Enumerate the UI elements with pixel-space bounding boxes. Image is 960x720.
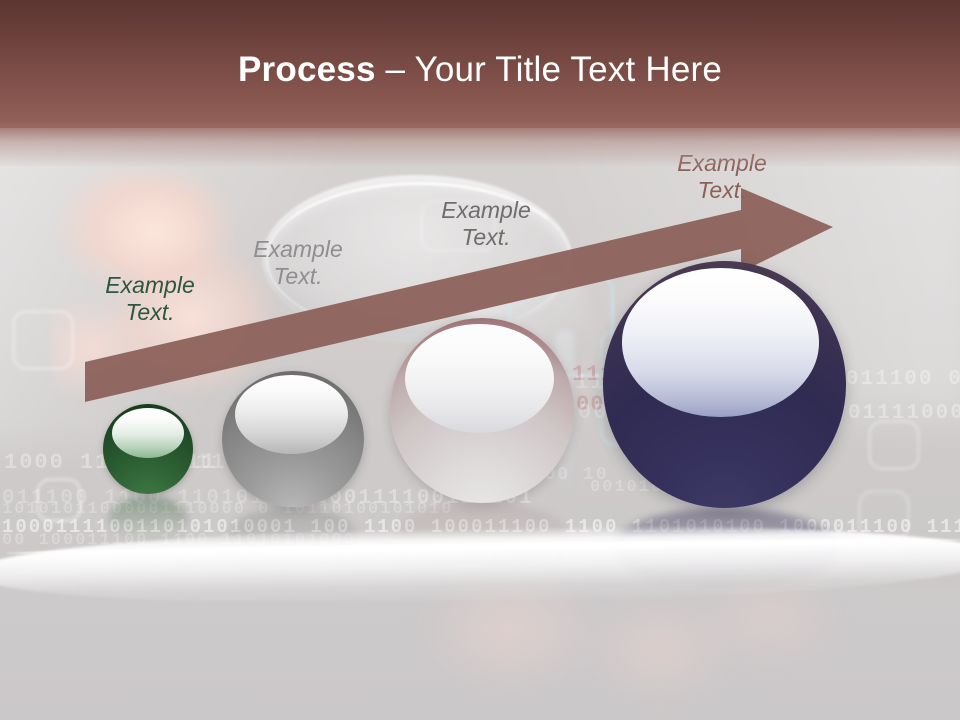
- process-sphere-2[interactable]: [222, 371, 364, 507]
- title-bar-fade: [0, 122, 960, 166]
- sphere-highlight: [112, 408, 184, 458]
- binary-text-row: 011100 001100: [846, 368, 960, 391]
- sphere-highlight: [235, 375, 349, 454]
- process-sphere-3[interactable]: [390, 318, 574, 503]
- process-sphere-4[interactable]: [603, 261, 846, 508]
- slide-canvas: 1110 00 1000 11100 [111110111000011100 0…: [0, 0, 960, 720]
- step-label-1[interactable]: Example Text.: [88, 272, 212, 326]
- process-sphere-1[interactable]: [103, 404, 193, 494]
- circuit-glow-rect: [868, 420, 920, 470]
- binary-text-row: 011110000 0: [848, 402, 960, 425]
- sphere-reflection-1: [108, 496, 188, 544]
- title-bold-part: Process: [238, 50, 376, 89]
- title-dash: –: [376, 50, 415, 89]
- step-label-2[interactable]: Example Text.: [236, 236, 360, 290]
- step-label-3[interactable]: Example Text.: [424, 197, 548, 251]
- circuit-glow-rect: [12, 310, 74, 370]
- sphere-highlight: [405, 324, 554, 433]
- page-title[interactable]: Process – Your Title Text Here: [0, 48, 960, 92]
- title-rest: Your Title Text Here: [415, 50, 723, 89]
- sphere-highlight: [622, 268, 819, 416]
